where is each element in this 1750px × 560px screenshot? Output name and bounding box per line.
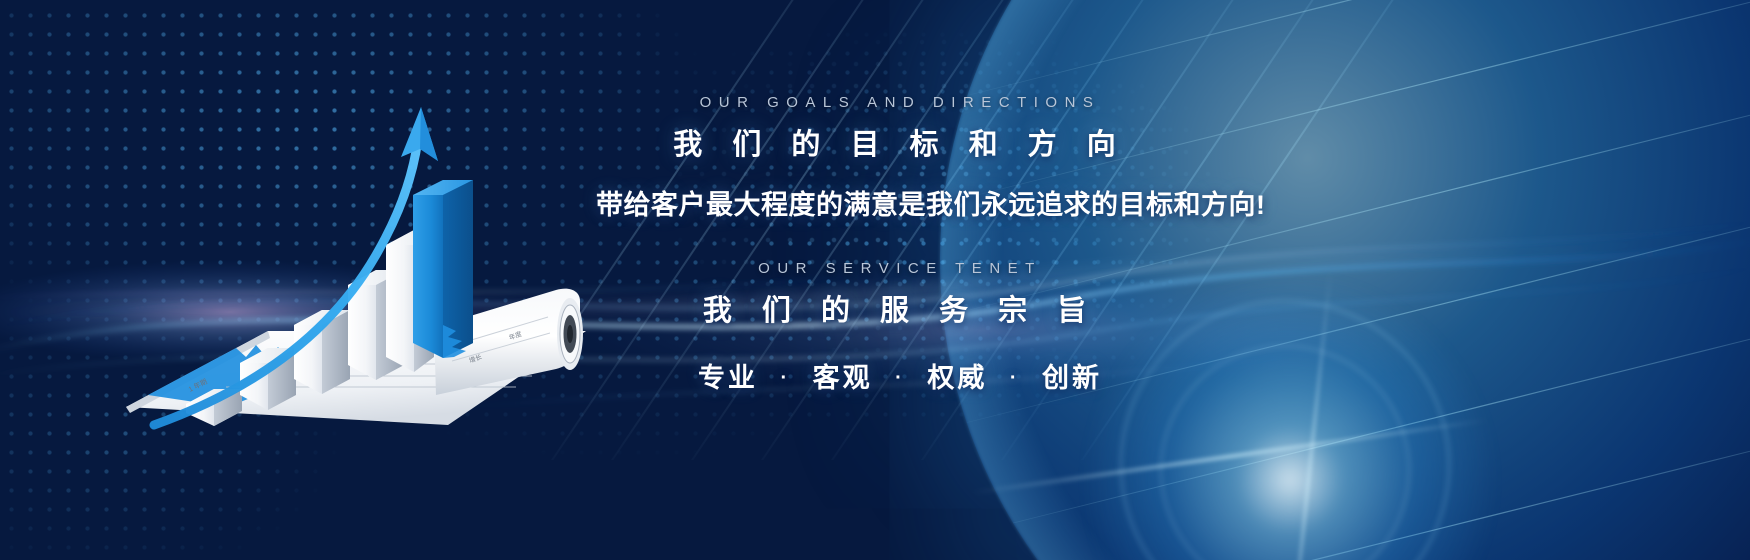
tagline-separator-3: · [998,367,1032,389]
tagline-item-2: 客观 [813,363,873,393]
goals-subtitle: 带给客户最大程度的满意是我们永远追求的目标和方向! [596,183,1204,222]
chart-bar-6-highlight [413,180,473,358]
hero-banner: 1 年期 2 年期 3 年期 4 年期 5 年期 6 年期 [0,0,1750,560]
tenet-text-block: OUR SERVICE TENET 我 们 的 服 务 宗 旨 专业 · 客观 … [596,260,1204,395]
goals-text-block: OUR GOALS AND DIRECTIONS 我 们 的 目 标 和 方 向… [596,94,1204,222]
tenet-eyebrow: OUR SERVICE TENET [596,260,1204,277]
bar-chart-illustration: 1 年期 2 年期 3 年期 4 年期 5 年期 6 年期 [118,95,588,440]
goals-title: 我 们 的 目 标 和 方 向 [596,121,1204,163]
tagline-separator-1: · [768,367,802,389]
tagline-separator-2: · [883,367,917,389]
tagline-item-4: 创新 [1042,363,1102,393]
tenet-title: 我 们 的 服 务 宗 旨 [596,287,1204,329]
tagline-item-1: 专业 [698,363,758,393]
goals-eyebrow: OUR GOALS AND DIRECTIONS [596,94,1204,111]
tenet-tagline: 专业 · 客观 · 权威 · 创新 [596,356,1204,395]
tagline-item-3: 权威 [927,363,987,393]
